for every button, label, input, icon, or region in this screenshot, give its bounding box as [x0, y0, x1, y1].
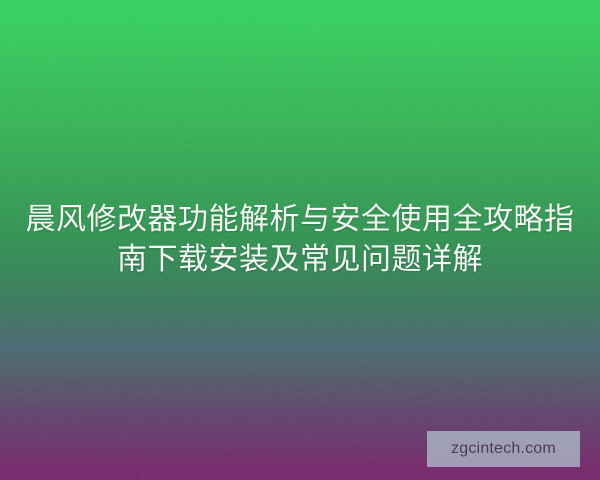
watermark-badge: zgcintech.com — [427, 431, 580, 467]
poster-canvas: 晨风修改器功能解析与安全使用全攻略指 南下载安装及常见问题详解 zgcintec… — [0, 0, 600, 480]
watermark-label: zgcintech.com — [451, 440, 556, 458]
title-line-2: 南下载安装及常见问题详解 — [117, 240, 483, 280]
page-title: 晨风修改器功能解析与安全使用全攻略指 南下载安装及常见问题详解 — [0, 0, 600, 480]
title-line-1: 晨风修改器功能解析与安全使用全攻略指 — [26, 200, 575, 240]
